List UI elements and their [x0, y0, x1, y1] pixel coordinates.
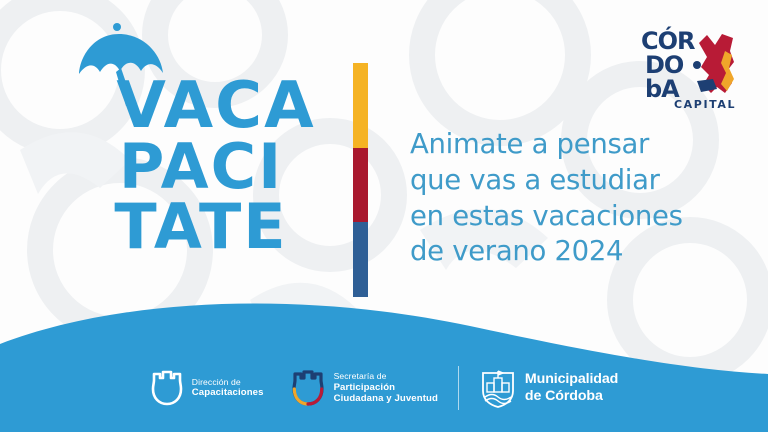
- poster-canvas: VACA PACI TATE Animate a pensar que vas …: [0, 0, 768, 432]
- headline-line-3: en estas vacaciones: [410, 199, 740, 235]
- footer-line-1: Municipalidad: [525, 371, 618, 388]
- coat-of-arms-icon: [479, 367, 517, 409]
- cordoba-subtitle: CAPITAL: [674, 98, 736, 109]
- footer-line-2: de Córdoba: [525, 388, 618, 405]
- cordoba-map-shape: [697, 34, 734, 93]
- wordmark-line-1: VACA: [70, 76, 332, 137]
- shield-tricolor-icon: [290, 368, 326, 408]
- footer-text-direccion: Dirección de Capacitaciones: [192, 377, 264, 399]
- footer-line-1: Dirección de: [192, 377, 264, 387]
- headline-line-4: de verano 2024: [410, 234, 740, 270]
- footer: Dirección de Capacitaciones Secretaría d…: [0, 344, 768, 432]
- footer-line-1: Secretaría de: [334, 371, 438, 381]
- wordmark: VACA PACI TATE: [70, 76, 332, 256]
- headline-line-2: que vas a estudiar: [410, 163, 740, 199]
- footer-line-2: Capacitaciones: [192, 387, 264, 399]
- cordoba-capital-logo: CÓR DO bA CAPITAL: [637, 21, 747, 109]
- footer-divider: [458, 366, 459, 410]
- shield-outline-icon: [150, 369, 184, 407]
- wordmark-line-3: TATE: [70, 197, 332, 257]
- tricolor-segment-blue: [353, 222, 368, 297]
- footer-item-secretaria-participacion: Secretaría de Participación Ciudadana y …: [290, 368, 438, 408]
- headline: Animate a pensar que vas a estudiar en e…: [410, 127, 740, 270]
- footer-line-3: Ciudadana y Juventud: [334, 393, 438, 405]
- tricolor-segment-red: [353, 148, 368, 222]
- headline-line-1: Animate a pensar: [410, 127, 740, 163]
- tricolor-bar: [353, 63, 368, 297]
- footer-text-secretaria: Secretaría de Participación Ciudadana y …: [334, 371, 438, 405]
- brand-lockup: VACA PACI TATE: [70, 18, 340, 308]
- footer-item-municipalidad: Municipalidad de Córdoba: [479, 367, 618, 409]
- tricolor-segment-yellow: [353, 63, 368, 148]
- footer-line-2: Participación: [334, 382, 438, 394]
- wordmark-line-2: PACI: [70, 137, 332, 197]
- footer-text-municipalidad: Municipalidad de Córdoba: [525, 371, 618, 406]
- footer-item-direccion-capacitaciones: Dirección de Capacitaciones: [150, 369, 264, 407]
